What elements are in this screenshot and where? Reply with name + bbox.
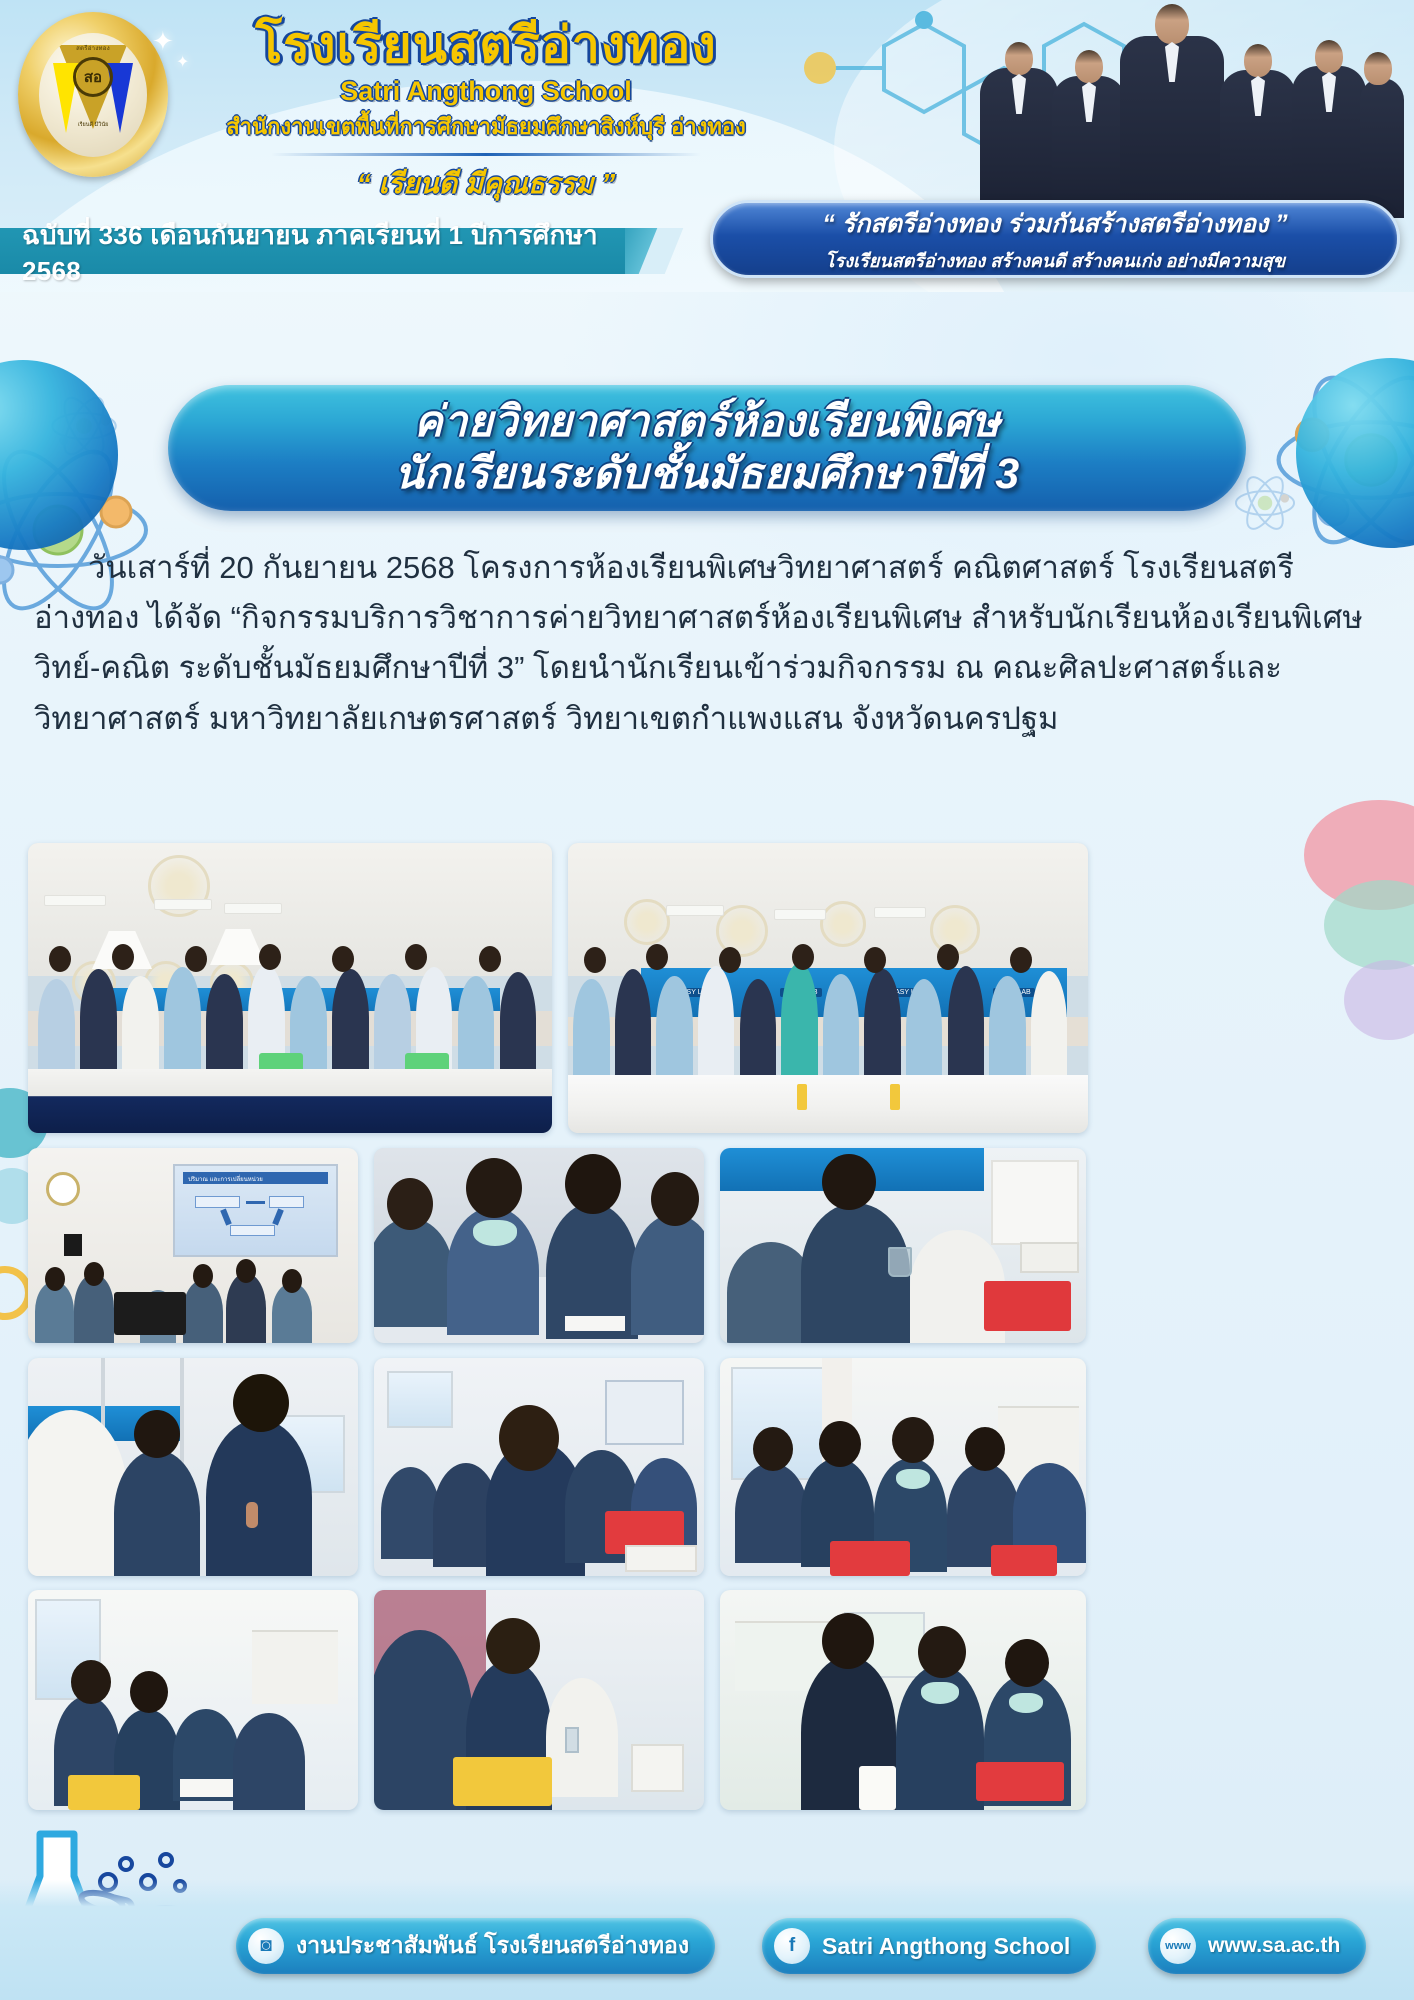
photo-10[interactable] bbox=[374, 1590, 704, 1810]
photo-7[interactable] bbox=[374, 1358, 704, 1576]
footer-label-website: www.sa.ac.th bbox=[1208, 1934, 1340, 1958]
globe-icon: www bbox=[1160, 1928, 1196, 1964]
school-identity-block: โรงเรียนสตรีอ่างทอง Satri Angthong Schoo… bbox=[176, 18, 796, 206]
footer-button-pr[interactable]: ◙ งานประชาสัมพันธ์ โรงเรียนสตรีอ่างทอง bbox=[236, 1918, 715, 1974]
footer-label-pr: งานประชาสัมพันธ์ โรงเรียนสตรีอ่างทอง bbox=[296, 1928, 689, 1964]
title-line-2: นักเรียนระดับชั้นมัธยมศึกษาปีที่ 3 bbox=[394, 448, 1019, 500]
quote-line-2: โรงเรียนสตรีอ่างทอง สร้างคนดี สร้างคนเก่… bbox=[825, 246, 1285, 275]
quote-line-1: “ รักสตรีอ่างทอง ร่วมกันสร้างสตรีอ่างทอง… bbox=[822, 204, 1287, 244]
photo-4[interactable] bbox=[374, 1148, 704, 1343]
photo-1[interactable] bbox=[28, 843, 552, 1133]
photo-gallery: EASY LAB EASY LAB EASY LAB EASY LAB bbox=[0, 800, 1414, 1920]
school-name-en: Satri Angthong School bbox=[176, 76, 796, 107]
school-quote-banner: “ รักสตรีอ่างทอง ร่วมกันสร้างสตรีอ่างทอง… bbox=[710, 200, 1400, 278]
photo-11[interactable] bbox=[720, 1590, 1086, 1810]
title-line-1: ค่ายวิทยาศาสตร์ห้องเรียนพิเศษ bbox=[414, 396, 1000, 448]
photo-3[interactable]: ปริมาณ และการเปลี่ยนหน่วย bbox=[28, 1148, 358, 1343]
article-title-banner: ค่ายวิทยาศาสตร์ห้องเรียนพิเศษ นักเรียนระ… bbox=[168, 385, 1246, 511]
school-department: สำนักงานเขตพื้นที่การศึกษามัธยมศึกษาสิงห… bbox=[176, 109, 796, 144]
newsletter-page: สตรีอ่างทอง สอ เรียนดี มีวินัย ✦ ✦ โรงเร… bbox=[0, 0, 1414, 2000]
footer-button-facebook[interactable]: f Satri Angthong School bbox=[762, 1918, 1096, 1974]
divider bbox=[271, 153, 701, 156]
photo-2[interactable]: EASY LAB EASY LAB EASY LAB EASY LAB bbox=[568, 843, 1088, 1133]
photo-5[interactable] bbox=[720, 1148, 1086, 1343]
facebook-icon: f bbox=[774, 1928, 810, 1964]
camera-icon: ◙ bbox=[248, 1928, 284, 1964]
slide-title: ปริมาณ และการเปลี่ยนหน่วย bbox=[188, 1174, 263, 1184]
issue-info-bar: ฉบับที่ 336 เดือนกันยายน ภาคเรียนที่ 1 ป… bbox=[0, 228, 625, 274]
photo-9[interactable] bbox=[28, 1590, 358, 1810]
crest-arc-text: สตรีอ่างทอง bbox=[76, 43, 110, 53]
footer-button-website[interactable]: www www.sa.ac.th bbox=[1148, 1918, 1366, 1974]
photo-8[interactable] bbox=[720, 1358, 1086, 1576]
school-name-th: โรงเรียนสตรีอ่างทอง bbox=[176, 18, 796, 72]
page-footer: ◙ งานประชาสัมพันธ์ โรงเรียนสตรีอ่างทอง f… bbox=[0, 1880, 1414, 2000]
atom-icon-right-small bbox=[1232, 470, 1298, 536]
crest-initials: สอ bbox=[73, 57, 113, 97]
crest-sub-text: เรียนดี มีวินัย bbox=[78, 121, 109, 129]
school-crest-logo: สตรีอ่างทอง สอ เรียนดี มีวินัย bbox=[18, 12, 168, 177]
school-motto: “ เรียนดี มีคุณธรรม ” bbox=[176, 162, 796, 206]
footer-label-facebook: Satri Angthong School bbox=[822, 1933, 1070, 1960]
article-body: วันเสาร์ที่ 20 กันยายน 2568 โครงการห้องเ… bbox=[34, 543, 1382, 744]
sparkle-icon: ✦ bbox=[152, 26, 174, 57]
page-header: สตรีอ่างทอง สอ เรียนดี มีวินัย ✦ ✦ โรงเร… bbox=[0, 0, 1414, 292]
photo-6[interactable] bbox=[28, 1358, 358, 1576]
staff-group-photo bbox=[974, 18, 1404, 218]
